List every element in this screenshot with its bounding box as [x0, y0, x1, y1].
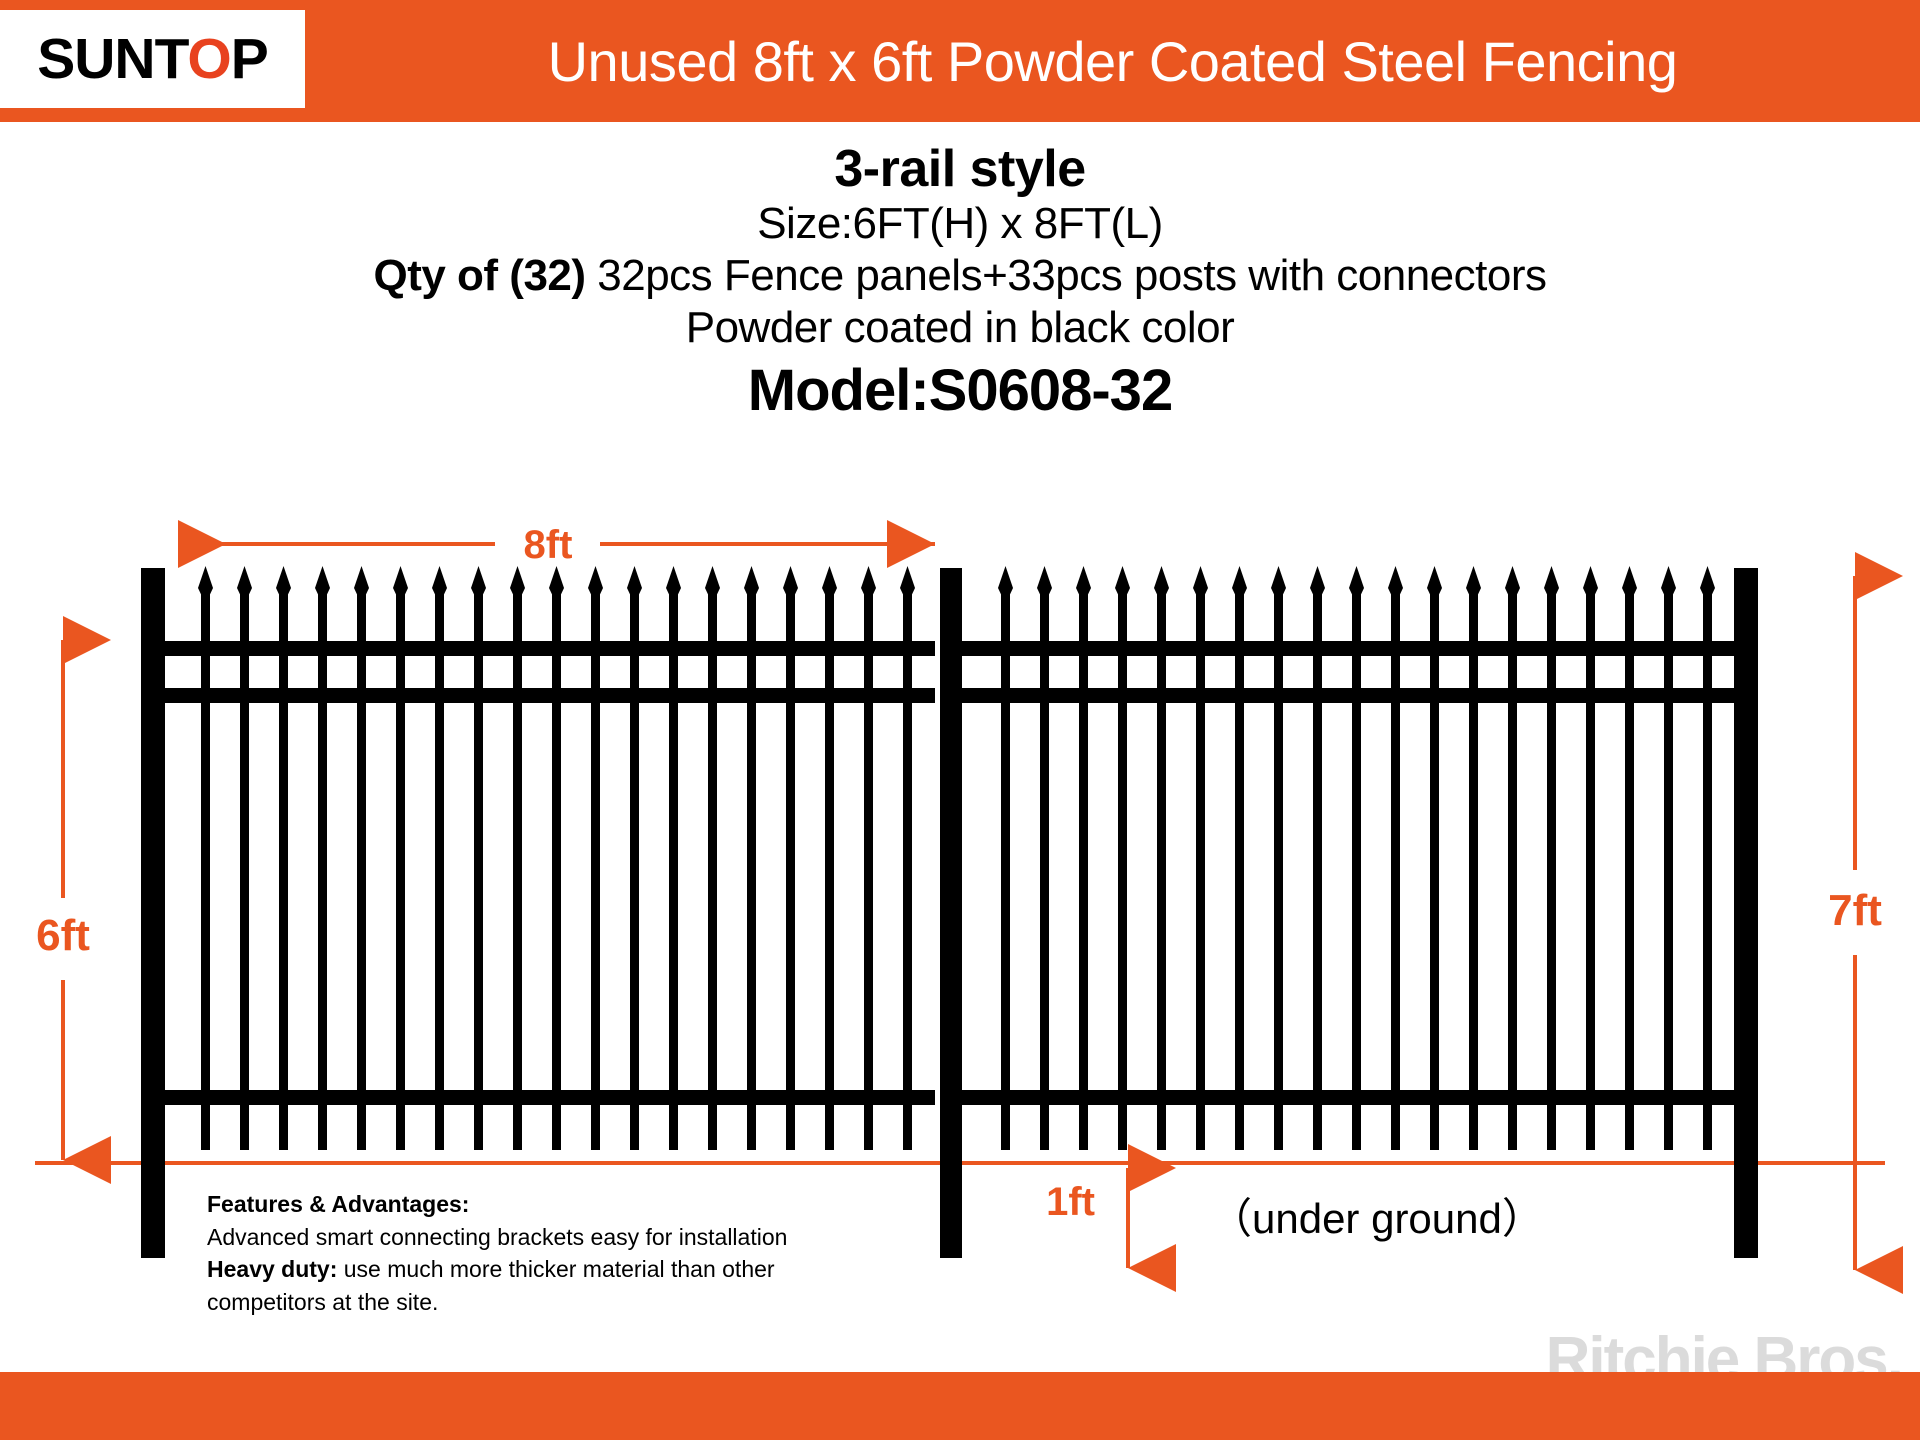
features-heading: Features & Advantages:: [207, 1188, 907, 1221]
spec-style-title: 3-rail style: [0, 140, 1920, 198]
features-line-3: competitors at the site.: [207, 1286, 907, 1319]
logo-part1: SUNT: [37, 27, 187, 91]
post-right: [1734, 568, 1758, 1258]
dimension-buried-label: 1ft: [1046, 1180, 1095, 1224]
dimension-buried-1ft: 1ft: [1046, 1168, 1128, 1268]
pickets-left-panel: [198, 566, 915, 1150]
spec-qty-line: Qty of (32) 32pcs Fence panels+33pcs pos…: [0, 250, 1920, 302]
spec-model-line: Model:S0608-32: [0, 356, 1920, 426]
dimension-height-right-label: 7ft: [1828, 886, 1882, 935]
dimension-height-left-label: 6ft: [36, 911, 90, 960]
logo-text: SUNTOP: [37, 31, 268, 88]
rail-mid-left: [155, 688, 935, 703]
features-line-2-bold: Heavy duty:: [207, 1256, 337, 1282]
dimension-height-6ft: 6ft: [36, 640, 90, 1160]
page-title: Unused 8ft x 6ft Powder Coated Steel Fen…: [305, 0, 1920, 122]
post-left: [141, 568, 165, 1258]
spec-size-line: Size:6FT(H) x 8FT(L): [0, 198, 1920, 250]
pickets-right-panel: [998, 566, 1715, 1150]
rail-top-right: [958, 641, 1740, 656]
features-line-2-rest: use much more thicker material than othe…: [337, 1256, 774, 1282]
features-line-1: Advanced smart connecting brackets easy …: [207, 1221, 907, 1254]
rails-right-panel: [958, 641, 1740, 1105]
under-ground-label: （under ground）: [1210, 1195, 1544, 1242]
logo-part2: P: [231, 27, 268, 91]
post-middle: [940, 568, 962, 1258]
rail-top-left: [155, 641, 935, 656]
dimension-width-8ft: 8ft: [178, 523, 935, 567]
dimension-height-7ft: 7ft: [1828, 576, 1882, 1270]
spec-qty-rest: 32pcs Fence panels+33pcs posts with conn…: [586, 251, 1547, 300]
rail-mid-right: [958, 688, 1740, 703]
logo-accent-o: O: [187, 27, 230, 91]
page-header: SUNTOP Unused 8ft x 6ft Powder Coated St…: [0, 0, 1920, 122]
rail-bottom-right: [958, 1090, 1740, 1105]
page-footer: [0, 1372, 1920, 1440]
fence-graphic: [141, 566, 1758, 1258]
rail-bottom-left: [155, 1090, 935, 1105]
rails-left-panel: [155, 641, 935, 1105]
suntop-logo: SUNTOP: [0, 10, 305, 108]
dimension-width-label: 8ft: [524, 523, 573, 567]
spec-text-block: 3-rail style Size:6FT(H) x 8FT(L) Qty of…: [0, 140, 1920, 426]
spec-powder-line: Powder coated in black color: [0, 302, 1920, 354]
spec-qty-bold: Qty of (32): [373, 251, 585, 300]
features-line-2: Heavy duty: use much more thicker materi…: [207, 1253, 907, 1286]
features-block: Features & Advantages: Advanced smart co…: [207, 1188, 907, 1319]
